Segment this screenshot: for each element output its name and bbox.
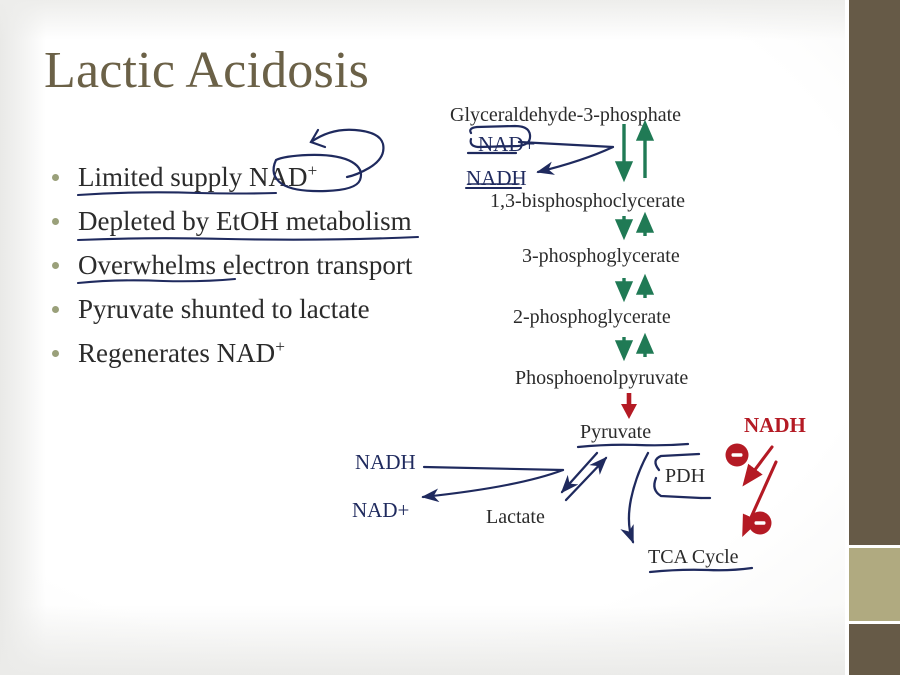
bullet-dot-icon	[52, 218, 59, 225]
pathway-label-2-phosphoglycerate: 2-phosphoglycerate	[513, 307, 671, 327]
bullet-label: Depleted by EtOH metabolism	[78, 201, 412, 241]
bullet-dot-icon	[52, 350, 59, 357]
background-left-shade	[0, 0, 46, 675]
pathway-label-glyceraldehyde-3-phosphate: Glyceraldehyde-3-phosphate	[450, 105, 681, 125]
background-top-shade	[0, 0, 845, 40]
pathway-label-tca-cycle: TCA Cycle	[648, 547, 739, 567]
annotation-nadh-left: NADH	[355, 452, 416, 473]
bullet-dot-icon	[52, 306, 59, 313]
bullet-item-4: Pyruvate shunted to lactate	[48, 289, 518, 333]
page-title: Lactic Acidosis	[44, 44, 369, 99]
sidebar-band-accent	[849, 548, 900, 621]
superscript-plus: +	[308, 161, 318, 180]
pathway-label-lactate: Lactate	[486, 507, 545, 527]
bullet-list: Limited supply NAD+Depleted by EtOH meta…	[48, 157, 518, 377]
background-bottom-shade	[0, 605, 845, 675]
annotation-nadh-under-box: NADH	[466, 168, 527, 189]
bullet-dot-icon	[52, 174, 59, 181]
bullet-item-5: Regenerates NAD+	[48, 333, 518, 377]
bullet-label: Limited supply NAD+	[78, 157, 317, 197]
enzyme-label-pdh: PDH	[665, 466, 705, 486]
bullet-label: Overwhelms electron transport	[78, 245, 412, 285]
pathway-label-3-phosphoglycerate: 3-phosphoglycerate	[522, 246, 680, 266]
bullet-item-3: Overwhelms electron transport	[48, 245, 518, 289]
pathway-label-phosphoenolpyruvate: Phosphoenolpyruvate	[515, 368, 688, 388]
bullet-dot-icon	[52, 262, 59, 269]
annotation-nad-plus-box: NAD+	[478, 134, 535, 155]
superscript-plus: +	[275, 337, 285, 356]
sidebar-band-top	[849, 0, 900, 545]
pathway-label-1-3-bisphosphoclycerate: 1,3-bisphosphoclycerate	[490, 191, 685, 211]
sidebar-band-bottom	[849, 624, 900, 675]
bullet-item-1: Limited supply NAD+	[48, 157, 518, 201]
annotation-nad-plus-left: NAD+	[352, 500, 409, 521]
bullet-item-2: Depleted by EtOH metabolism	[48, 201, 518, 245]
bullet-label: Regenerates NAD+	[78, 333, 285, 373]
annotation-nadh-red: NADH	[744, 415, 806, 436]
pathway-label-pyruvate: Pyruvate	[580, 422, 651, 442]
bullet-label: Pyruvate shunted to lactate	[78, 289, 370, 329]
slide-canvas: Lactic Acidosis Limited supply NAD+Deple…	[0, 0, 900, 675]
